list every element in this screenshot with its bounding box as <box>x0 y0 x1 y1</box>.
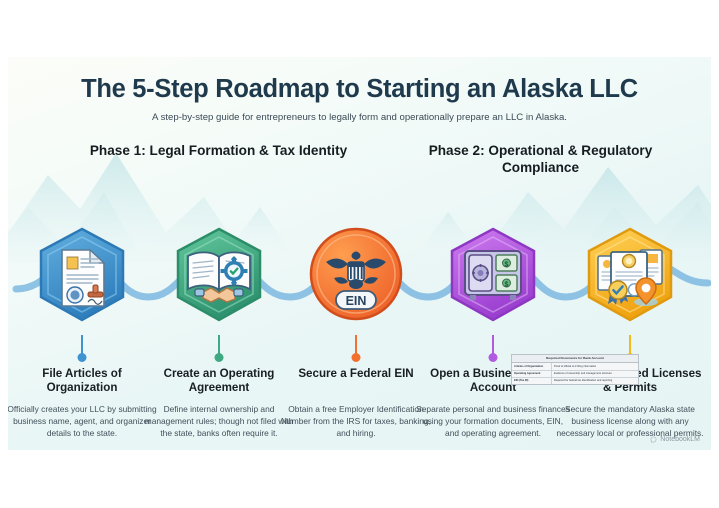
table-row: Articles of Organization Proof of offici… <box>512 363 638 370</box>
notebooklm-logo-icon <box>650 436 657 443</box>
step-2-badge[interactable] <box>149 217 289 335</box>
table-cell-value: Required for federal tax identification … <box>552 378 638 384</box>
step-1-label: File Articles of Organization <box>8 367 158 395</box>
table-cell-key: Operating Agreement <box>512 371 552 377</box>
step-3[interactable]: EIN Secure a Federal EIN Obtain a free E… <box>286 217 426 335</box>
infographic-canvas: The 5-Step Roadmap to Starting an Alaska… <box>8 57 711 450</box>
table-cell-value: Proof of official LLC filing information <box>552 363 638 369</box>
step-2-label: Create an Operating Agreement <box>143 367 295 395</box>
table-row: Operating Agreement Evidence of ownershi… <box>512 371 638 378</box>
svg-text:$: $ <box>505 261 509 268</box>
svg-text:$: $ <box>505 281 509 288</box>
bank-safe-with-cash-icon: $ $ <box>441 224 545 328</box>
table-cell-key: Articles of Organization <box>512 363 552 369</box>
step-3-dot <box>352 353 361 362</box>
table-cell-key: EIN (Tax ID) <box>512 378 552 384</box>
step-3-badge[interactable]: EIN <box>286 217 426 335</box>
step-4[interactable]: $ $ Open a Business Bank Account Separat… <box>423 217 563 335</box>
watermark-label: NotebookLM <box>660 436 700 443</box>
table-cell-value: Evidence of ownership and management str… <box>552 371 638 377</box>
step-1-dot <box>78 353 87 362</box>
ein-badge-text: EIN <box>346 294 367 308</box>
step-5-badge[interactable] <box>560 217 700 335</box>
step-1-description: Officially creates your LLC by submittin… <box>8 403 160 440</box>
open-book-handshake-gear-icon <box>167 224 271 328</box>
federal-eagle-seal-icon: EIN <box>304 224 408 328</box>
document-with-seal-and-stamp-icon <box>30 224 134 328</box>
step-2-dot <box>215 353 224 362</box>
steps-row: File Articles of Organization Officially… <box>8 57 711 450</box>
step-5-description: Secure the mandatory Alaska state busine… <box>552 403 708 440</box>
step-2[interactable]: Create an Operating Agreement Define int… <box>149 217 289 335</box>
step-1-badge[interactable] <box>12 217 152 335</box>
required-documents-table: Required Documents for Bank Account Arti… <box>511 354 639 385</box>
step-5[interactable]: Obtain Required Licenses & Permits Secur… <box>560 217 700 335</box>
required-documents-table-title: Required Documents for Bank Account <box>512 355 638 363</box>
step-4-badge[interactable]: $ $ <box>423 217 563 335</box>
step-4-dot <box>489 353 498 362</box>
table-row: EIN (Tax ID) Required for federal tax id… <box>512 378 638 384</box>
license-certificate-badge-pin-icon <box>578 224 682 328</box>
step-1[interactable]: File Articles of Organization Officially… <box>12 217 152 335</box>
step-3-description: Obtain a free Employer Identification Nu… <box>278 403 434 440</box>
step-3-label: Secure a Federal EIN <box>280 367 432 381</box>
step-2-description: Define internal ownership and management… <box>141 403 297 440</box>
notebooklm-watermark: NotebookLM <box>650 436 700 443</box>
step-4-description: Separate personal and business finances … <box>415 403 571 440</box>
